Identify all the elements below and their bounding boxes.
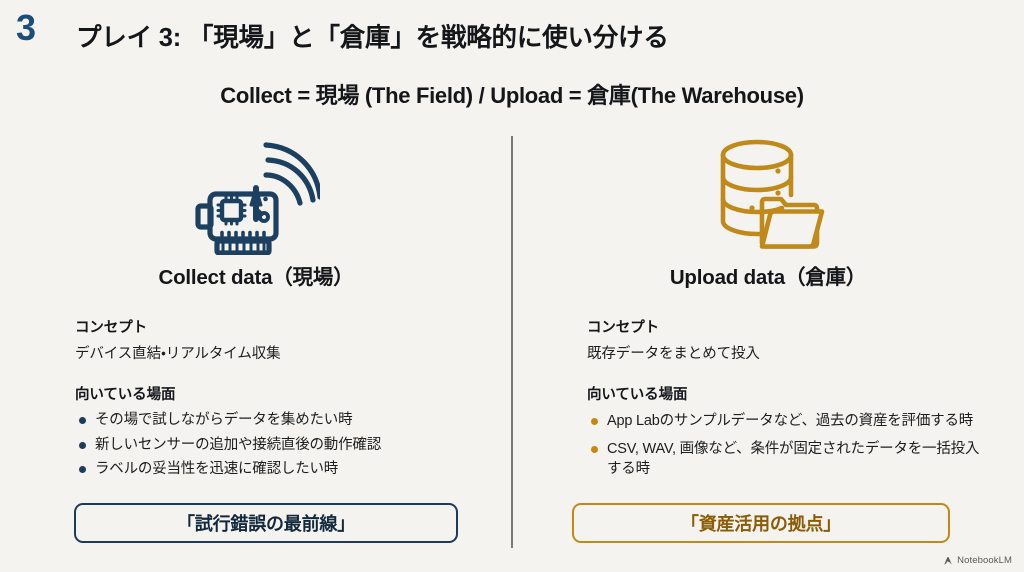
list-item-text: App Labのサンプルデータなど、過去の資産を評価する時 (607, 413, 973, 429)
concept-text: 既存データをまとめて投入 (587, 342, 988, 363)
notebooklm-logo-icon (943, 556, 954, 566)
concept-label: コンセプト (75, 316, 476, 337)
concept-section-upload: コンセプト 既存データをまとめて投入 (548, 316, 988, 363)
page-title: プレイ 3: 「現場」と「倉庫」を戦略的に使い分ける (76, 17, 669, 54)
list-item: 新しいセンサーの追加や接続直後の動作確認 (75, 435, 476, 456)
usecase-section-upload: 向いている場面 App Labのサンプルデータなど、過去の資産を評価する時 CS… (548, 383, 988, 480)
usecase-label: 向いている場面 (75, 383, 476, 404)
slide-number: 3 (16, 10, 36, 46)
list-item: ラベルの妥当性を迅速に確認したい時 (75, 459, 476, 480)
list-item-text: その場で試しながらデータを集めたい時 (95, 412, 352, 428)
bullet-dot-icon (79, 417, 86, 424)
list-item: その場で試しながらデータを集めたい時 (75, 410, 476, 431)
column-heading-upload: Upload data（倉庫） (548, 260, 988, 290)
bullet-dot-icon (79, 442, 86, 449)
concept-text: デバイス直結・リアルタイム収集 (75, 342, 476, 363)
concept-label: コンセプト (587, 316, 988, 337)
list-item-text: ラベルの妥当性を迅速に確認したい時 (95, 461, 338, 477)
usecase-label: 向いている場面 (587, 383, 988, 404)
bullet-dot-icon (591, 418, 598, 425)
usecase-section-collect: 向いている場面 その場で試しながらデータを集めたい時 新しいセンサーの追加や接続… (36, 383, 476, 480)
bullet-dot-icon (79, 466, 86, 473)
watermark: NotebookLM (943, 555, 1012, 566)
usecase-bullet-list-upload: App Labのサンプルデータなど、過去の資産を評価する時 CSV, WAV, … (587, 411, 988, 480)
slide-canvas: 3 プレイ 3: 「現場」と「倉庫」を戦略的に使い分ける Collect = 現… (0, 0, 1024, 572)
column-upload: Upload data（倉庫） コンセプト 既存データをまとめて投入 向いている… (548, 130, 988, 480)
watermark-label: NotebookLM (957, 555, 1012, 566)
bullet-dot-icon (591, 446, 598, 453)
column-divider (511, 136, 513, 548)
list-item-text: 新しいセンサーの追加や接続直後の動作確認 (95, 437, 381, 453)
slide-subtitle: Collect = 現場 (The Field) / Upload = 倉庫(T… (0, 78, 1024, 110)
column-collect: Collect data（現場） コンセプト デバイス直結・リアルタイム収集 向… (36, 130, 476, 480)
callout-collect: 「試行錯誤の最前線」 (74, 503, 458, 543)
iot-sensor-board-wifi-icon (36, 130, 476, 258)
concept-section-collect: コンセプト デバイス直結・リアルタイム収集 (36, 316, 476, 363)
list-item: CSV, WAV, 画像など、条件が固定されたデータを一括投入する時 (587, 439, 988, 480)
list-item: App Labのサンプルデータなど、過去の資産を評価する時 (587, 411, 988, 432)
database-folder-icon (548, 130, 988, 258)
column-heading-collect: Collect data（現場） (36, 260, 476, 290)
usecase-bullet-list-collect: その場で試しながらデータを集めたい時 新しいセンサーの追加や接続直後の動作確認 … (75, 410, 476, 480)
list-item-text: CSV, WAV, 画像など、条件が固定されたデータを一括投入する時 (607, 441, 979, 478)
callout-upload: 「資産活用の拠点」 (572, 503, 950, 543)
